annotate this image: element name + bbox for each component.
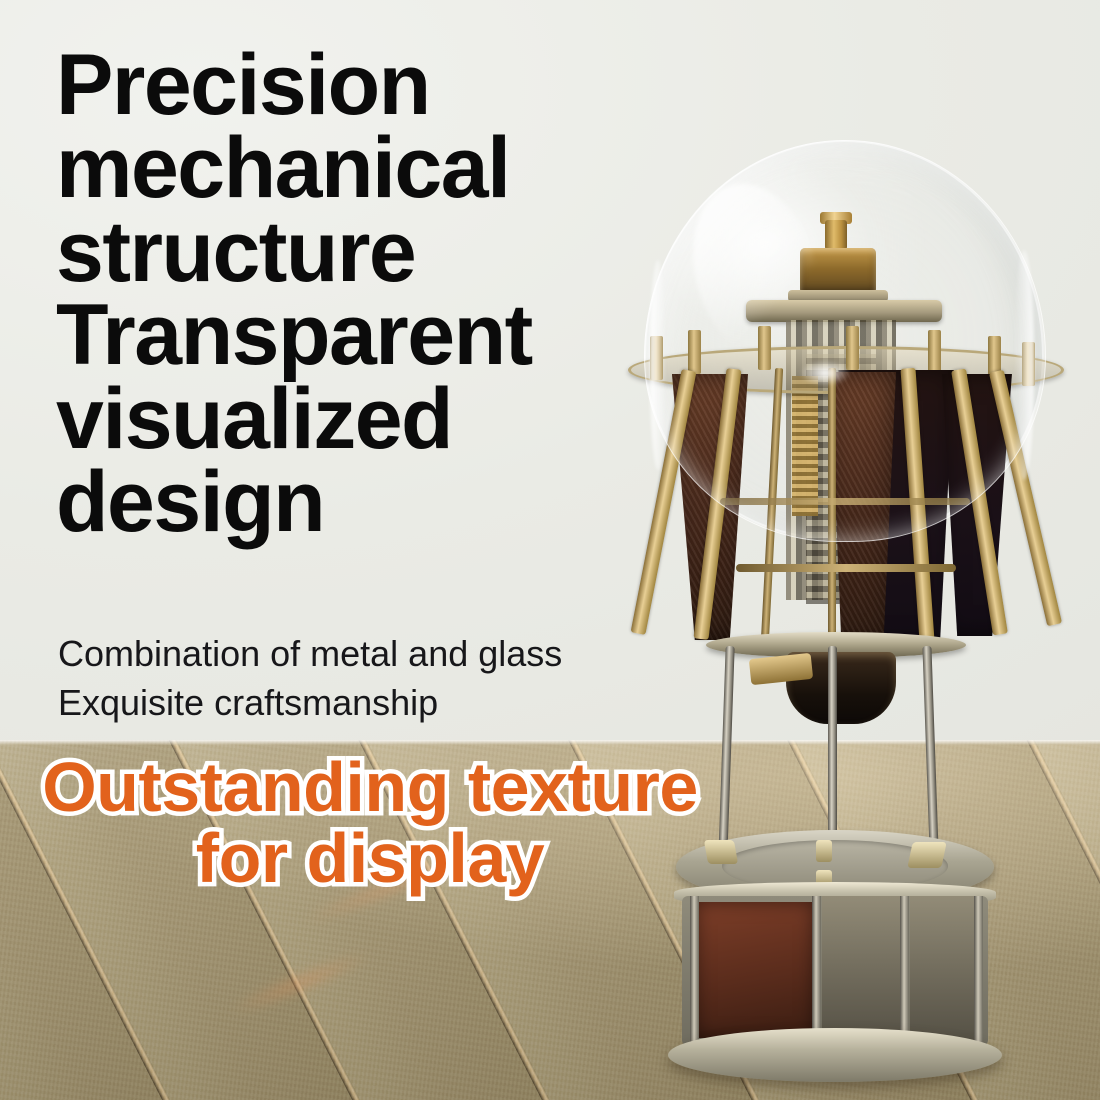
- promo-banner-line-1: Outstanding texture: [42, 748, 698, 826]
- dome-specular-flare: [790, 355, 860, 391]
- base-glass-panel: [822, 896, 902, 1046]
- base-brown-panel: [696, 902, 814, 1038]
- product-poster: Precision mechanical structure Transpare…: [0, 0, 1100, 1100]
- headline: Precision mechanical structure Transpare…: [56, 44, 666, 544]
- dome-right-edge-highlight: [1014, 250, 1034, 480]
- base-glass-panel: [910, 896, 982, 1046]
- support-rod: [718, 646, 734, 858]
- headline-line-1: Precision: [56, 44, 666, 127]
- headline-line-5: visualized: [56, 378, 666, 461]
- subheadline-line-1: Combination of metal and glass: [58, 630, 678, 679]
- subheadline: Combination of metal and glass Exquisite…: [58, 630, 678, 728]
- promo-banner: Outstanding texture for display: [20, 752, 720, 895]
- base-post: [812, 896, 821, 1046]
- support-rod: [922, 646, 938, 852]
- skirt-hoop: [736, 564, 956, 572]
- headline-line-3: structure: [56, 211, 666, 294]
- headline-line-4: Transparent: [56, 294, 666, 377]
- base-nub: [816, 840, 832, 862]
- subheadline-line-2: Exquisite craftsmanship: [58, 679, 678, 728]
- base-post: [900, 896, 909, 1046]
- base-body: [682, 896, 988, 1046]
- base-bottom-disc: [668, 1028, 1002, 1082]
- base-post: [690, 896, 699, 1046]
- headline-line-6: design: [56, 461, 666, 544]
- dome-rim-highlight: [644, 140, 1046, 542]
- base-post: [974, 896, 983, 1046]
- product-image: [610, 140, 1080, 1030]
- promo-banner-line-2: for display: [20, 823, 720, 894]
- support-rod: [828, 646, 837, 844]
- headline-line-2: mechanical: [56, 127, 666, 210]
- base-nub: [907, 842, 947, 868]
